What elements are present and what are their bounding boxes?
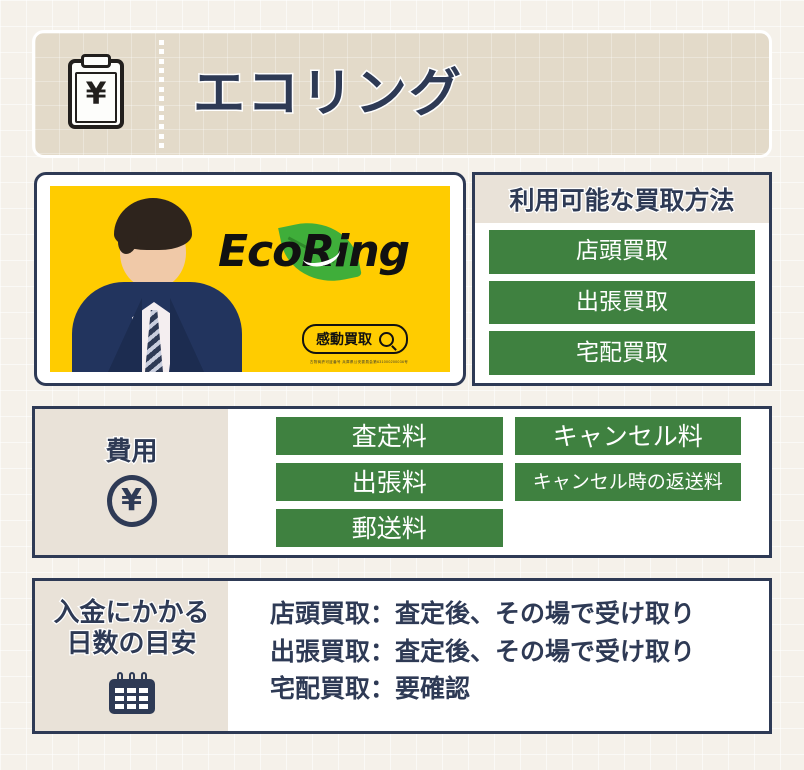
payout-line-visit: 出張買取：査定後、その場で受け取り <box>270 633 769 671</box>
method-tag-delivery[interactable]: 宅配買取 <box>489 331 755 375</box>
fee-tag-visit[interactable]: 出張料 <box>276 463 503 501</box>
fee-tag-cancel-return-shipping[interactable]: キャンセル時の返送料 <box>515 463 742 501</box>
header-icon-wrap: ¥ <box>35 59 157 129</box>
kandou-kaitori-badge[interactable]: 感動買取 <box>302 324 408 354</box>
header-card: ¥ エコリング <box>32 30 772 158</box>
dotted-divider <box>157 40 165 148</box>
page-title: エコリング <box>193 68 463 120</box>
payout-label-column: 入金にかかる 日数の目安 <box>35 581 228 731</box>
magnifier-icon <box>379 332 394 347</box>
payout-label-line1: 入金にかかる <box>53 598 209 628</box>
fees-card: 費用 ¥ 査定料 キャンセル料 出張料 キャンセル時の返送料 郵送料 <box>32 406 772 558</box>
banner-fineprint: 古物商許可証番号 兵庫県公安委員会第631000200036号 <box>310 360 408 365</box>
brand-banner-card[interactable]: EcoRing 感動買取 古物商許可証番号 兵庫県公安委員会第631000200… <box>34 172 466 386</box>
purchase-methods-list: 店頭買取 出張買取 宅配買取 <box>475 223 769 383</box>
payout-label-line2: 日数の目安 <box>66 629 196 659</box>
payout-line-delivery: 宅配買取：要確認 <box>270 670 769 708</box>
calendar-icon <box>109 672 155 714</box>
fee-grid-empty-cell <box>515 509 742 547</box>
kandou-kaitori-label: 感動買取 <box>316 329 372 349</box>
payout-line-store: 店頭買取：査定後、その場で受け取り <box>270 595 769 633</box>
payout-details: 店頭買取：査定後、その場で受け取り 出張買取：査定後、その場で受け取り 宅配買取… <box>228 581 769 731</box>
purchase-methods-heading-label: 利用可能な買取方法 <box>509 181 734 217</box>
method-tag-store[interactable]: 店頭買取 <box>489 230 755 274</box>
fee-tag-assessment[interactable]: 査定料 <box>276 417 503 455</box>
yen-glyph: ¥ <box>68 80 124 110</box>
fees-label: 費用 <box>105 437 157 468</box>
clipboard-clip <box>81 54 111 68</box>
purchase-methods-card: 利用可能な買取方法 店頭買取 出張買取 宅配買取 <box>472 172 772 386</box>
fee-tag-postage[interactable]: 郵送料 <box>276 509 503 547</box>
payout-days-card: 入金にかかる 日数の目安 店頭買取：査定後、その場で受け取り 出張買取：査定後、… <box>32 578 772 734</box>
fee-tag-cancel[interactable]: キャンセル料 <box>515 417 742 455</box>
ecoring-logo: EcoRing <box>218 228 434 288</box>
method-tag-visit[interactable]: 出張買取 <box>489 281 755 325</box>
model-photo <box>72 194 242 372</box>
fees-label-column: 費用 ¥ <box>35 409 228 555</box>
payout-label: 入金にかかる 日数の目安 <box>53 598 209 660</box>
purchase-methods-heading: 利用可能な買取方法 <box>475 175 769 223</box>
fees-grid: 査定料 キャンセル料 出張料 キャンセル時の返送料 郵送料 <box>228 409 769 555</box>
brand-banner-image: EcoRing 感動買取 古物商許可証番号 兵庫県公安委員会第631000200… <box>50 186 450 372</box>
yen-circle-icon: ¥ <box>107 475 157 527</box>
clipboard-yen-icon: ¥ <box>68 59 124 129</box>
